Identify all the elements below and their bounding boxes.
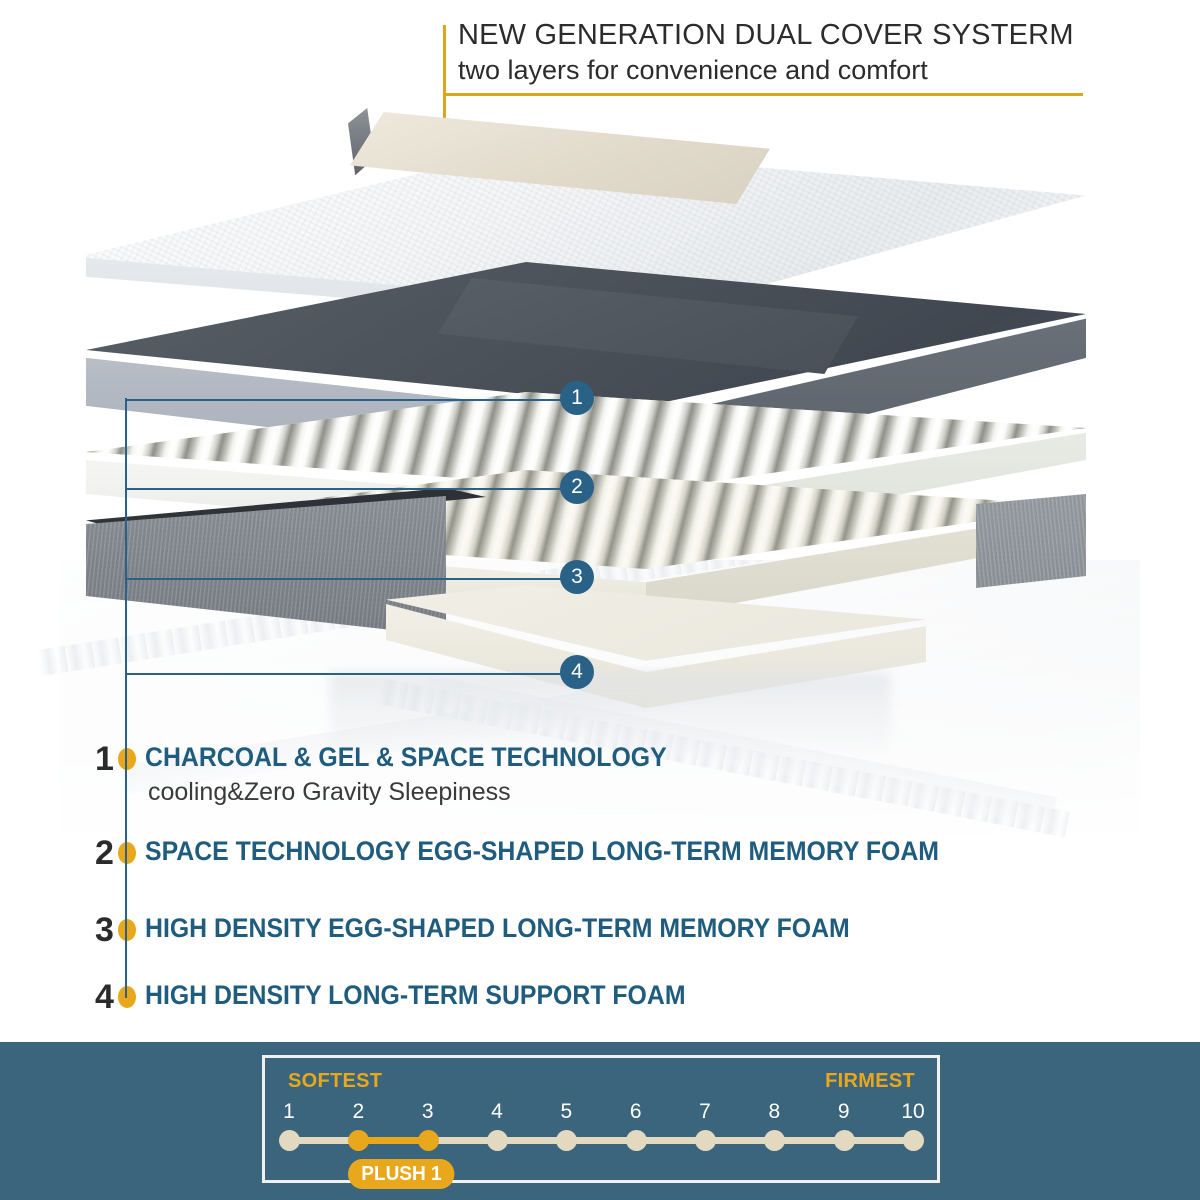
callout-marker-4[interactable]: 4: [560, 655, 594, 689]
firmness-tick-label-2: 2: [340, 1100, 376, 1123]
firmness-tick-label-6: 6: [618, 1100, 654, 1123]
firmness-dot-6[interactable]: [626, 1130, 647, 1151]
callout-marker-2[interactable]: 2: [560, 470, 594, 504]
legend-bullet-dot-2-icon: [118, 842, 136, 864]
firmness-dot-10[interactable]: [903, 1130, 924, 1151]
softest-label: SOFTEST: [288, 1070, 382, 1092]
firmness-dot-9[interactable]: [834, 1130, 855, 1151]
legend-bullet-dot-4-icon: [118, 986, 136, 1008]
legend-title-3: HIGH DENSITY EGG-SHAPED LONG-TERM MEMORY…: [145, 913, 850, 943]
leader-line-4: [126, 673, 566, 675]
firmness-panel: SOFTEST FIRMEST 12345678910 PLUSH 1: [0, 1042, 1200, 1200]
legend-number-1: 1: [95, 742, 114, 776]
callout-marker-1[interactable]: 1: [560, 381, 594, 415]
legend-subtitle-1: cooling&Zero Gravity Sleepiness: [148, 778, 511, 806]
firmness-dot-1[interactable]: [279, 1130, 300, 1151]
firmness-dot-5[interactable]: [556, 1130, 577, 1151]
firmness-tick-label-9: 9: [826, 1100, 862, 1123]
leader-line-2: [126, 488, 566, 490]
legend-title-1: CHARCOAL & GEL & SPACE TECHNOLOGY: [145, 742, 667, 772]
leader-line-1: [126, 399, 566, 401]
firmness-dot-8[interactable]: [764, 1130, 785, 1151]
firmness-tick-label-7: 7: [687, 1100, 723, 1123]
legend-bullet-dot-3-icon: [118, 919, 136, 941]
firmness-tick-label-3: 3: [410, 1100, 446, 1123]
firmness-scale-box: SOFTEST FIRMEST 12345678910 PLUSH 1: [262, 1055, 940, 1183]
firmness-tick-label-10: 10: [895, 1100, 931, 1123]
infographic-page: NEW GENERATION DUAL COVER SYSTERM two la…: [0, 0, 1200, 1200]
legend-number-3: 3: [95, 913, 114, 947]
firmness-dot-3[interactable]: [418, 1130, 439, 1151]
firmness-tick-label-4: 4: [479, 1100, 515, 1123]
firmness-tick-label-1: 1: [271, 1100, 307, 1123]
callout-marker-3[interactable]: 3: [560, 560, 594, 594]
firmest-label: FIRMEST: [825, 1070, 915, 1092]
firmness-tick-label-8: 8: [756, 1100, 792, 1123]
mattress-stack-illustration: [0, 0, 1200, 730]
leader-line-3: [126, 578, 566, 580]
legend-number-2: 2: [95, 836, 114, 870]
firmness-dot-4[interactable]: [487, 1130, 508, 1151]
firmness-tick-label-5: 5: [548, 1100, 584, 1123]
legend-bullet-dot-1-icon: [118, 748, 136, 770]
firmness-dot-2[interactable]: [348, 1130, 369, 1151]
legend-title-4: HIGH DENSITY LONG-TERM SUPPORT FOAM: [145, 980, 686, 1010]
firmness-dot-7[interactable]: [695, 1130, 716, 1151]
legend-title-2: SPACE TECHNOLOGY EGG-SHAPED LONG-TERM ME…: [145, 836, 939, 866]
plush-badge: PLUSH 1: [348, 1159, 455, 1189]
legend-number-4: 4: [95, 980, 114, 1014]
